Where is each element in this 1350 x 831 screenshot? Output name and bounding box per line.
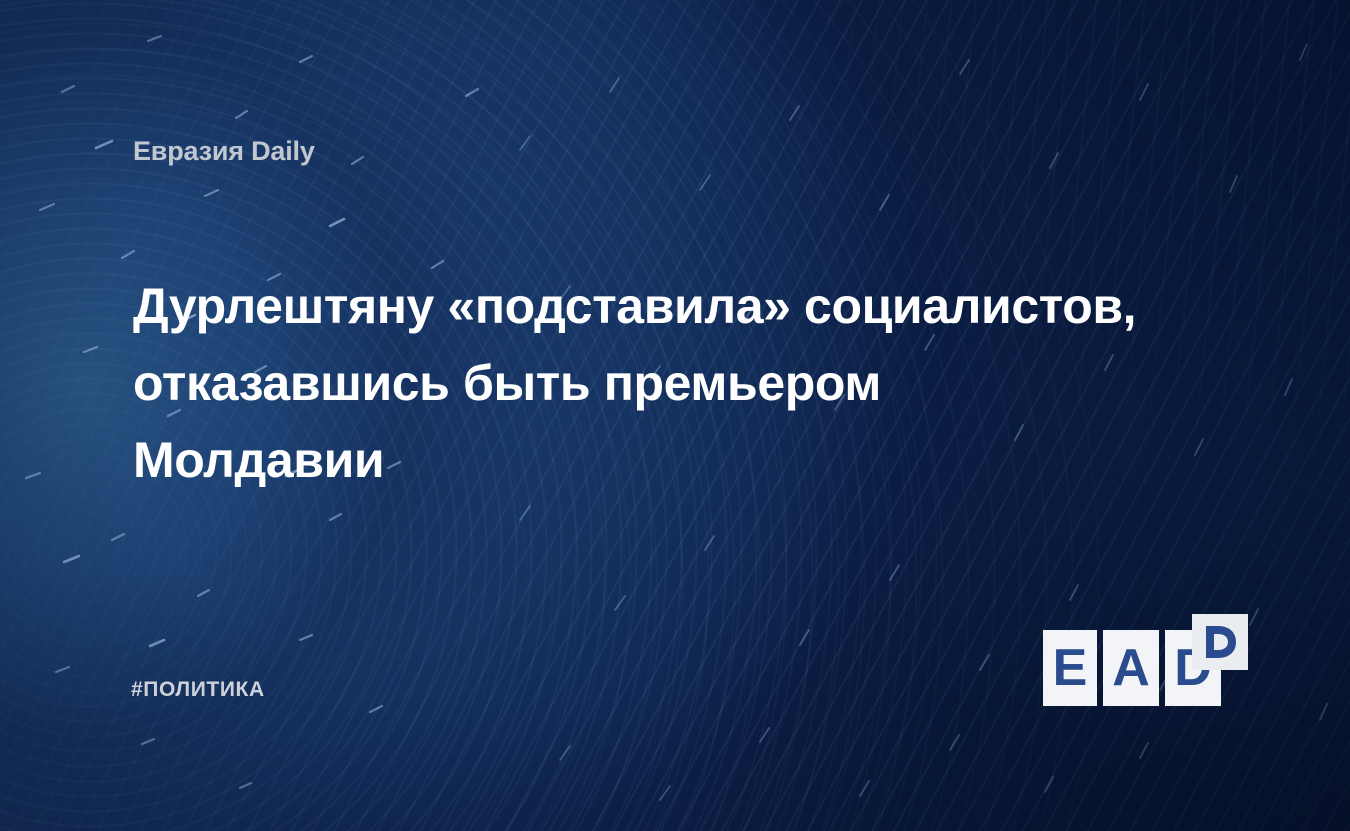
headline: Дурлештяну «подставила» социалистов, отк… (133, 268, 1253, 499)
eadaily-logo[interactable]: E A D (1043, 626, 1225, 706)
logo-tile-d-accent (1192, 614, 1248, 670)
headline-line-1: Дурлештяну «подставила» социалистов, (133, 268, 1253, 345)
category-hashtag[interactable]: #ПОЛИТИКА (131, 678, 265, 702)
headline-line-2: отказавшись быть премьером (133, 345, 1253, 422)
headline-line-3: Молдавии (133, 422, 1253, 499)
cover-content: Евразия Daily Дурлештяну «подставила» со… (0, 0, 1350, 831)
brand-title: Евразия Daily (133, 136, 315, 167)
news-cover-card: Евразия Daily Дурлештяну «подставила» со… (0, 0, 1350, 831)
logo-d-accent-glyph (1192, 614, 1248, 670)
logo-tile-a: A (1103, 630, 1159, 706)
logo-tile-e: E (1043, 630, 1097, 706)
